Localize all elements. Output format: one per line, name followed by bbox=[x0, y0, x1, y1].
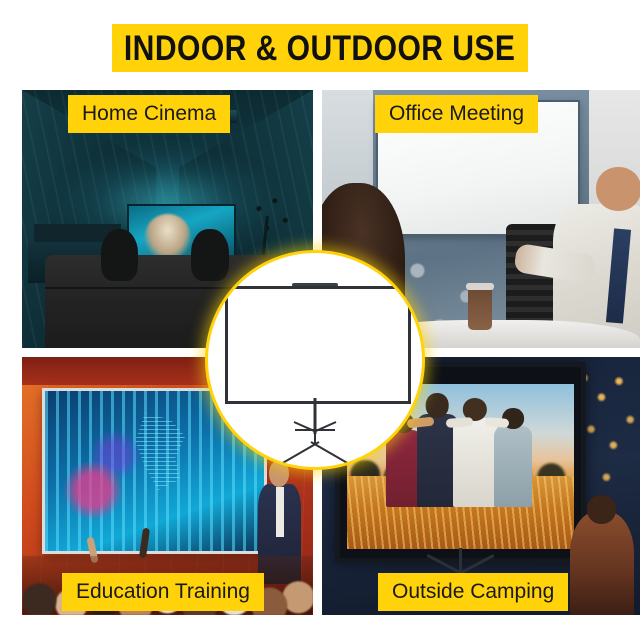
title-banner: INDOOR & OUTDOOR USE bbox=[112, 24, 528, 72]
caption-education-training: Education Training bbox=[62, 573, 264, 611]
caption-home-cinema: Home Cinema bbox=[68, 95, 230, 133]
group-of-friends bbox=[386, 406, 536, 508]
page-title: INDOOR & OUTDOOR USE bbox=[124, 31, 516, 66]
coffee-cup bbox=[468, 288, 492, 330]
arm-2 bbox=[445, 417, 473, 428]
friend-4 bbox=[494, 426, 533, 507]
friend-2-head bbox=[426, 393, 449, 417]
caption-office-meeting: Office Meeting bbox=[375, 95, 538, 133]
product-inset-circle bbox=[205, 250, 425, 470]
presenter-head bbox=[596, 167, 640, 210]
movie-character bbox=[144, 214, 191, 260]
tripod-legs bbox=[267, 413, 363, 447]
camper-foreground bbox=[570, 512, 634, 615]
world-map-graphic bbox=[133, 413, 194, 490]
caption-outside-camping: Outside Camping bbox=[378, 573, 568, 611]
product-projector-screen bbox=[225, 286, 411, 404]
promo-image: INDOOR & OUTDOOR USE bbox=[0, 0, 640, 640]
viewer-silhouette-right bbox=[191, 229, 229, 281]
lecturer-shirt bbox=[276, 487, 285, 537]
friend-3 bbox=[453, 418, 496, 508]
friend-2 bbox=[417, 414, 457, 508]
viewer-silhouette-left bbox=[101, 229, 139, 281]
